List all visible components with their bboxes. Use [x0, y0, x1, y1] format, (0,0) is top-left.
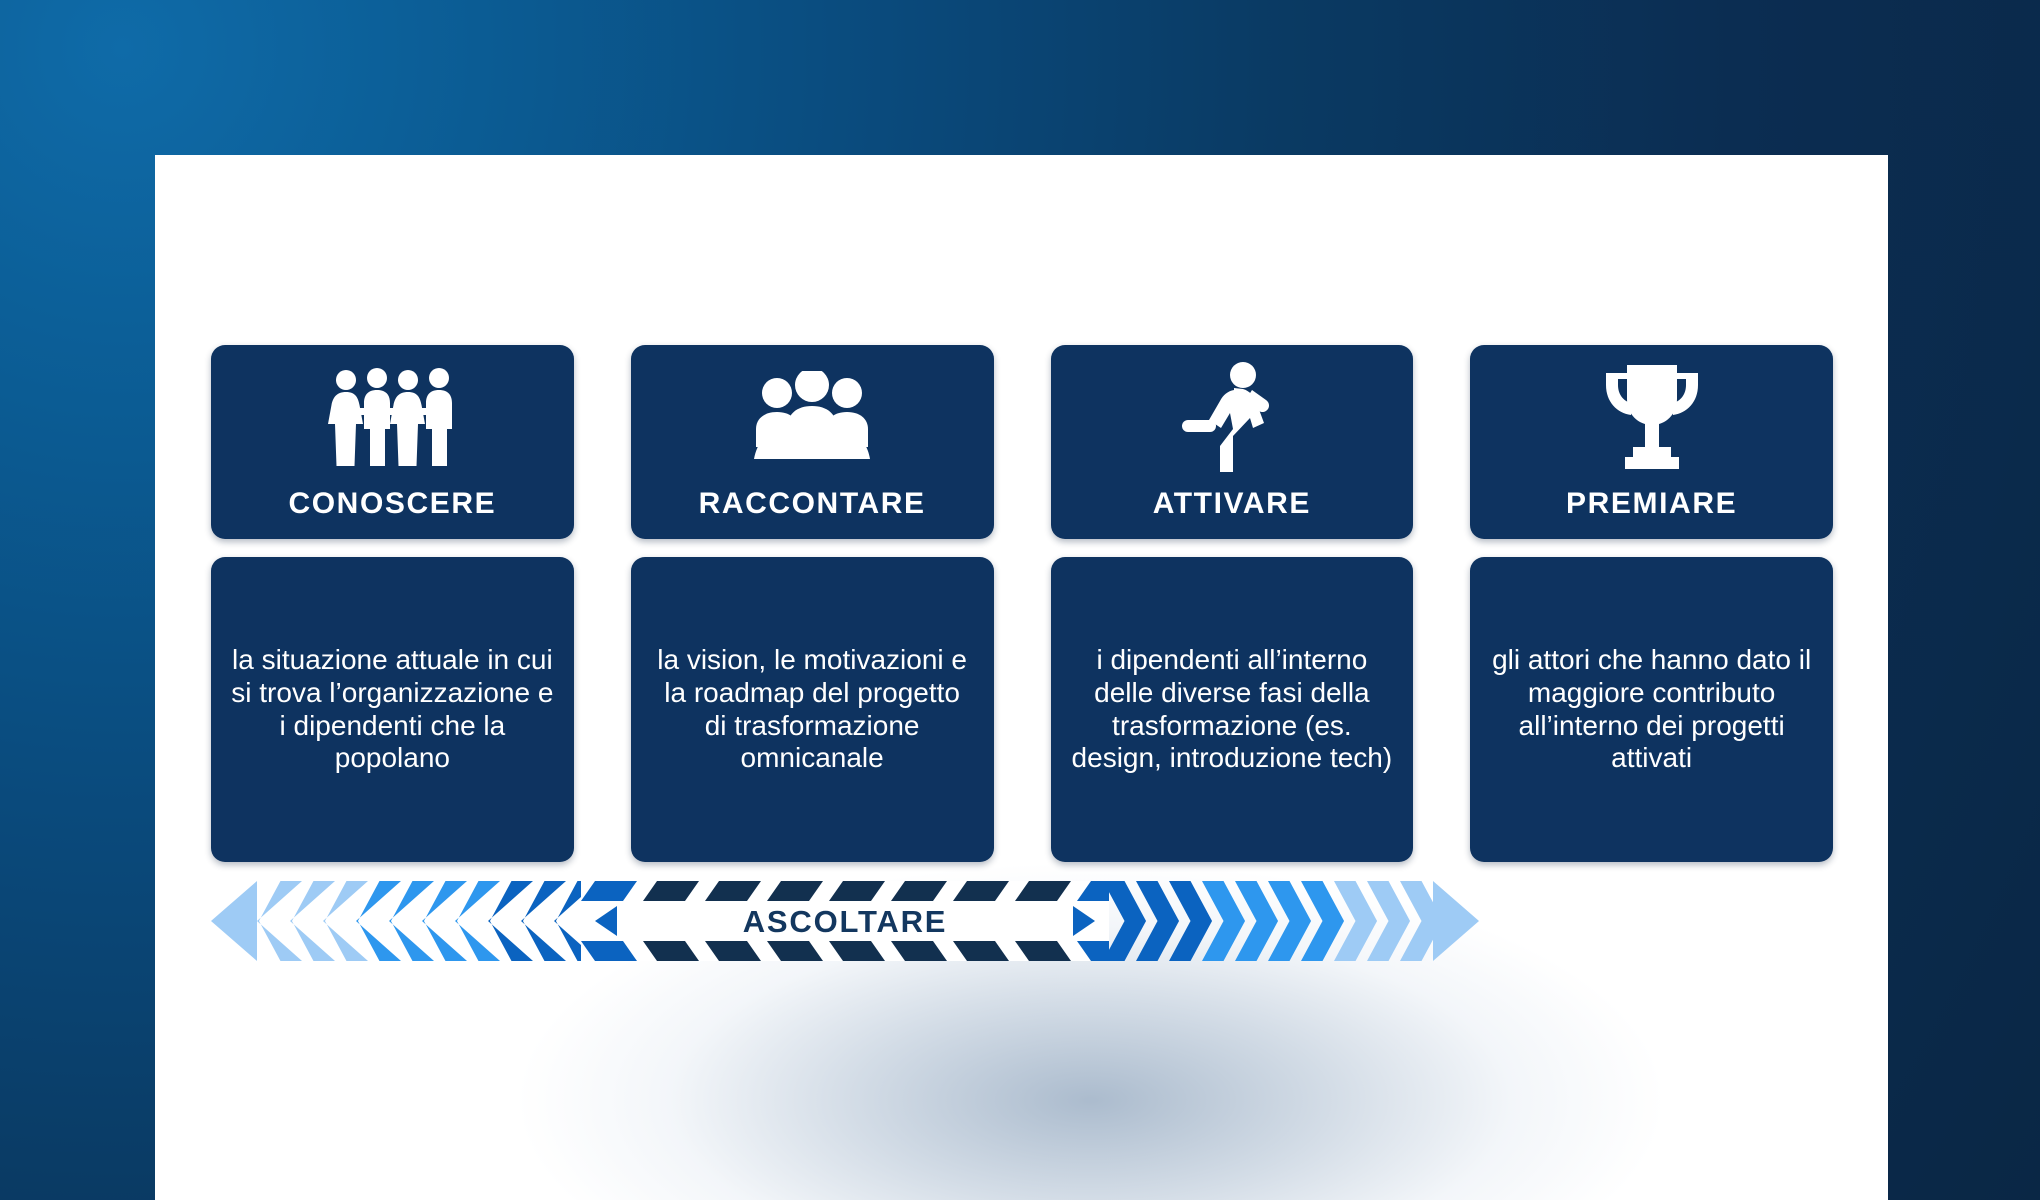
center-band-segment [829, 881, 885, 901]
card-header-premiare[interactable]: PREMIARE [1470, 345, 1833, 539]
pillar-card-grid: CONOSCERE la situazione attuale in cui s… [211, 345, 1833, 862]
center-band-segment [705, 941, 761, 961]
card-body-premiare[interactable]: gli attori che hanno dato il maggiore co… [1470, 557, 1833, 862]
center-band-segment [1077, 881, 1109, 901]
center-band-segment [643, 881, 699, 901]
center-band-segment [1015, 941, 1071, 961]
center-band-segment [705, 881, 761, 901]
card-description: la situazione attuale in cui si trova l’… [231, 644, 554, 775]
center-band-segment [953, 941, 1009, 961]
pillar-column-premiare: PREMIARE gli attori che hanno dato il ma… [1470, 345, 1833, 862]
running-person-icon [1051, 345, 1414, 489]
card-header-conoscere[interactable]: CONOSCERE [211, 345, 574, 539]
center-band-segment [891, 881, 947, 901]
ascoltare-label: ASCOLTARE [743, 906, 948, 937]
center-band-bottom [581, 941, 1109, 961]
card-body-conoscere[interactable]: la situazione attuale in cui si trova l’… [211, 557, 574, 862]
card-description: i dipendenti all’interno delle diverse f… [1071, 644, 1394, 775]
chevron-left-icon [595, 906, 617, 936]
ascoltare-center-box[interactable]: ASCOLTARE [581, 881, 1109, 961]
card-title-label: CONOSCERE [288, 489, 496, 519]
card-description: la vision, le motivazioni e la roadmap d… [651, 644, 974, 775]
center-band-segment [581, 881, 637, 901]
card-body-raccontare[interactable]: la vision, le motivazioni e la roadmap d… [631, 557, 994, 862]
card-description: gli attori che hanno dato il maggiore co… [1490, 644, 1813, 775]
pillar-column-attivare: ATTIVARE i dipendenti all’interno delle … [1051, 345, 1414, 862]
center-band-segment [767, 881, 823, 901]
ascoltare-chevron-strip: ASCOLTARE [211, 881, 1833, 961]
center-band-segment [643, 941, 699, 961]
audience-presentation-icon [631, 345, 994, 489]
slide-canvas: CONOSCERE la situazione attuale in cui s… [0, 0, 2040, 1200]
center-band-segment [891, 941, 947, 961]
strip-left-end-cap [211, 881, 257, 961]
group-of-four-people-icon [211, 345, 574, 489]
center-band-segment [1015, 881, 1071, 901]
center-band-segment [767, 941, 823, 961]
strip-right-end-cap [1433, 881, 1479, 961]
card-header-attivare[interactable]: ATTIVARE [1051, 345, 1414, 539]
card-title-label: RACCONTARE [699, 489, 926, 519]
white-content-panel: CONOSCERE la situazione attuale in cui s… [155, 155, 1888, 1200]
trophy-icon [1470, 345, 1833, 489]
center-band-top [581, 881, 1109, 901]
card-title-label: ATTIVARE [1153, 489, 1311, 519]
card-title-label: PREMIARE [1566, 489, 1737, 519]
left-chevron-group [257, 881, 587, 961]
center-band-segment [581, 941, 637, 961]
pillar-column-conoscere: CONOSCERE la situazione attuale in cui s… [211, 345, 574, 862]
card-header-raccontare[interactable]: RACCONTARE [631, 345, 994, 539]
chevron-right-icon [1073, 906, 1095, 936]
pillar-column-raccontare: RACCONTARE la vision, le motivazioni e l… [631, 345, 994, 862]
center-band-segment [953, 881, 1009, 901]
center-band-segment [1077, 941, 1109, 961]
card-body-attivare[interactable]: i dipendenti all’interno delle diverse f… [1051, 557, 1414, 862]
right-chevron-group [1103, 881, 1433, 961]
center-band-segment [829, 941, 885, 961]
